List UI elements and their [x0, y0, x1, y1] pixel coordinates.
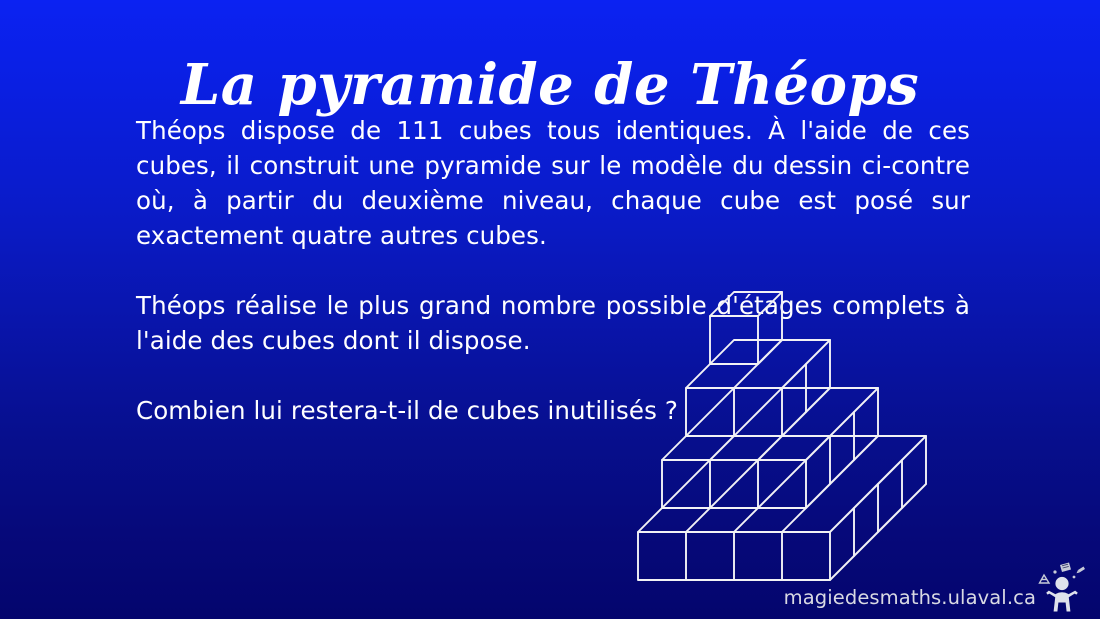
juggled-book-icon: [1060, 563, 1071, 573]
footer: magiedesmaths.ulaval.ca: [784, 561, 1086, 613]
site-url[interactable]: magiedesmaths.ulaval.ca: [784, 588, 1036, 614]
juggled-triangle-icon: [1040, 575, 1050, 583]
statement-paragraph-1: Théops dispose de 111 cubes tous identiq…: [136, 113, 970, 253]
step-pyramid-drawing: [600, 326, 950, 601]
slide-canvas: La pyramide de Théops Théops dispose de …: [0, 0, 1100, 619]
page-title: La pyramide de Théops: [0, 56, 1100, 115]
paragraph-spacer: [136, 253, 970, 288]
juggled-pencil-icon: [1077, 567, 1086, 574]
juggler-logo: [1038, 561, 1086, 613]
pyramid-level-2: [662, 388, 878, 508]
juggled-dot-icon: [1053, 570, 1075, 578]
juggler-figure-icon: [1046, 577, 1078, 612]
pyramid-figure: [600, 326, 950, 601]
